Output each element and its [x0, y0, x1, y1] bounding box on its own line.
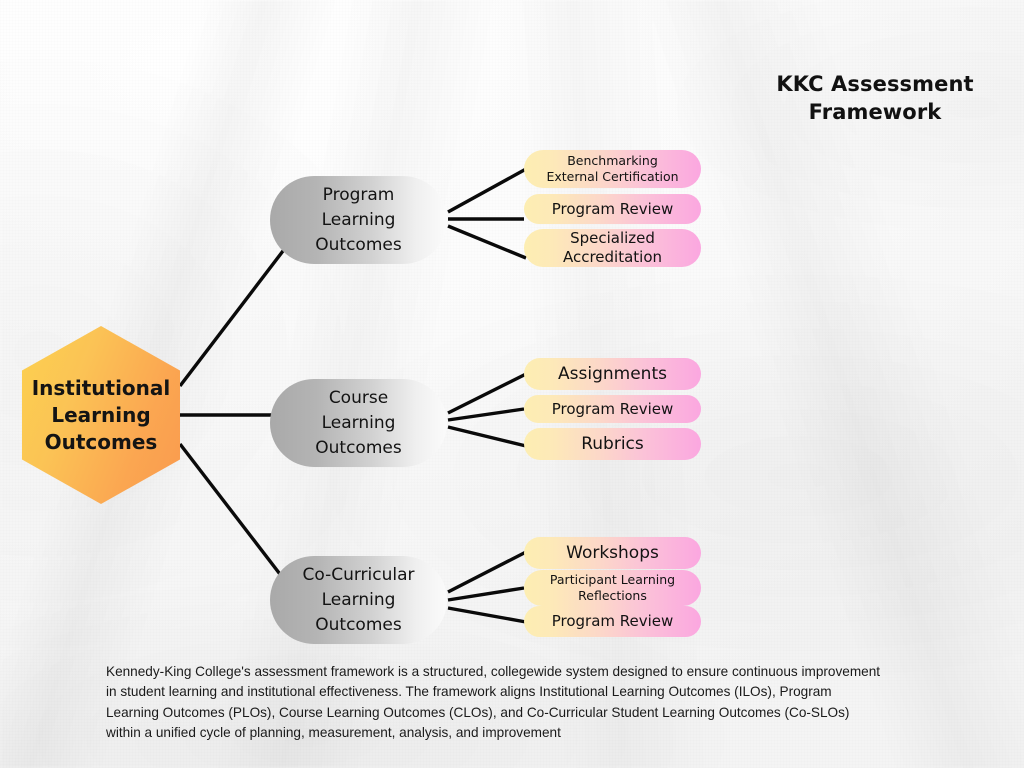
leaf-node-label: Program Review: [546, 200, 680, 219]
root-node-label: Institutional Learning Outcomes: [32, 375, 171, 456]
branch-node-co-curricular-learning-outcomes[interactable]: Co-Curricular Learning Outcomes: [270, 556, 447, 644]
leaf-node-program-review-plo[interactable]: Program Review: [524, 194, 701, 224]
edge-root-to-plo: [180, 247, 286, 386]
branch-node-label-line-2: Learning: [315, 208, 401, 233]
leaf-node-label-line-1: Participant Learning: [550, 572, 675, 588]
branch-node-label-line-1: Course: [315, 386, 401, 411]
branch-node-label-line-2: Learning: [315, 411, 401, 436]
leaf-node-participant-learning-reflections[interactable]: Participant Learning Reflections: [524, 570, 701, 606]
edge-plo-to-leaf-1: [448, 169, 526, 212]
leaf-node-workshops[interactable]: Workshops: [524, 537, 701, 569]
leaf-node-label: Benchmarking External Certification: [540, 153, 684, 185]
branch-node-program-learning-outcomes[interactable]: Program Learning Outcomes: [270, 176, 447, 264]
root-node-label-line-3: Outcomes: [32, 429, 171, 456]
leaf-node-label: Program Review: [546, 400, 680, 419]
leaf-node-assignments[interactable]: Assignments: [524, 358, 701, 390]
leaf-node-label-line-1: Assignments: [558, 364, 667, 385]
leaf-node-label: Specialized Accreditation: [557, 229, 668, 267]
branch-node-label-line-1: Co-Curricular: [302, 563, 414, 588]
leaf-node-program-review-clo[interactable]: Program Review: [524, 395, 701, 423]
leaf-node-label-line-1: Benchmarking: [546, 153, 678, 169]
diagram-title: KKC Assessment Framework: [740, 70, 1010, 126]
leaf-node-label-line-1: Program Review: [552, 200, 674, 219]
edge-root-to-coslo: [180, 444, 286, 582]
branch-node-label: Course Learning Outcomes: [315, 386, 401, 461]
leaf-node-label-line-1: Rubrics: [581, 434, 644, 455]
branch-node-label-line-3: Outcomes: [302, 613, 414, 638]
edge-plo-to-leaf-3: [448, 226, 526, 258]
branch-node-label-line-2: Learning: [302, 588, 414, 613]
edge-clo-to-leaf-2: [448, 409, 524, 420]
leaf-node-rubrics[interactable]: Rubrics: [524, 428, 701, 460]
diagram-canvas: KKC Assessment Framework Institutional L…: [0, 0, 1024, 768]
caption-text: Kennedy-King College's assessment framew…: [106, 662, 881, 743]
branch-node-label-line-3: Outcomes: [315, 233, 401, 258]
leaf-node-label: Assignments: [552, 364, 673, 385]
branch-node-label-line-3: Outcomes: [315, 436, 401, 461]
leaf-node-label-line-1: Program Review: [552, 400, 674, 419]
branch-node-course-learning-outcomes[interactable]: Course Learning Outcomes: [270, 379, 447, 467]
leaf-node-benchmarking-external-certification[interactable]: Benchmarking External Certification: [524, 150, 701, 188]
edge-clo-to-leaf-3: [448, 427, 526, 446]
leaf-node-label-line-1: Program Review: [552, 612, 674, 631]
leaf-node-label-line-2: External Certification: [546, 169, 678, 185]
leaf-node-label: Program Review: [546, 612, 680, 631]
branch-node-label-line-1: Program: [315, 183, 401, 208]
root-node-label-line-1: Institutional: [32, 375, 171, 402]
leaf-node-label-line-2: Accreditation: [563, 248, 662, 267]
leaf-node-label-line-1: Specialized: [563, 229, 662, 248]
edge-coslo-to-leaf-1: [448, 552, 526, 592]
leaf-node-label-line-2: Reflections: [550, 588, 675, 604]
root-node-label-line-2: Learning: [32, 402, 171, 429]
leaf-node-label-line-1: Workshops: [566, 543, 659, 564]
leaf-node-label: Participant Learning Reflections: [544, 572, 681, 604]
diagram-title-line-2: Framework: [740, 98, 1010, 126]
branch-node-label: Program Learning Outcomes: [315, 183, 401, 258]
edge-coslo-to-leaf-2: [448, 588, 524, 600]
edge-clo-to-leaf-1: [448, 374, 526, 413]
leaf-node-label: Workshops: [560, 543, 665, 564]
branch-node-label: Co-Curricular Learning Outcomes: [302, 563, 414, 638]
leaf-node-program-review-coslo[interactable]: Program Review: [524, 606, 701, 637]
leaf-node-specialized-accreditation[interactable]: Specialized Accreditation: [524, 229, 701, 267]
edge-coslo-to-leaf-3: [448, 608, 526, 622]
leaf-node-label: Rubrics: [575, 434, 650, 455]
diagram-title-line-1: KKC Assessment: [740, 70, 1010, 98]
